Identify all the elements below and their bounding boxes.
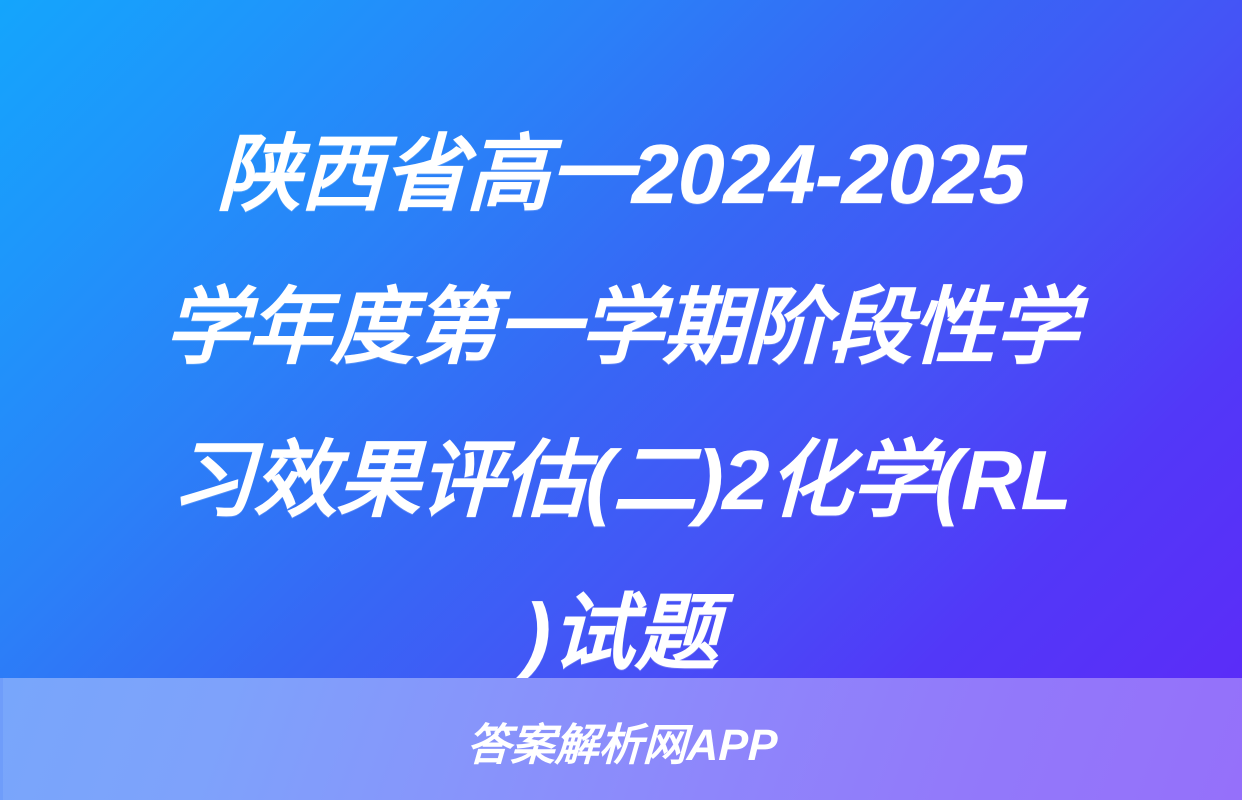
watermark-band: 答案解析网APP	[0, 678, 1242, 800]
poster-title: 陕西省高一2024-2025 学年度第一学期阶段性学 习效果评估(二)2化学(R…	[0, 98, 1242, 710]
poster-canvas: 陕西省高一2024-2025 学年度第一学期阶段性学 习效果评估(二)2化学(R…	[0, 0, 1242, 800]
watermark-label: 答案解析网APP	[466, 709, 779, 773]
title-line-2: 学年度第一学期阶段性学	[3, 251, 1240, 404]
title-line-1: 陕西省高一2024-2025	[3, 98, 1240, 251]
title-line-3: 习效果评估(二)2化学(RL	[3, 404, 1240, 557]
